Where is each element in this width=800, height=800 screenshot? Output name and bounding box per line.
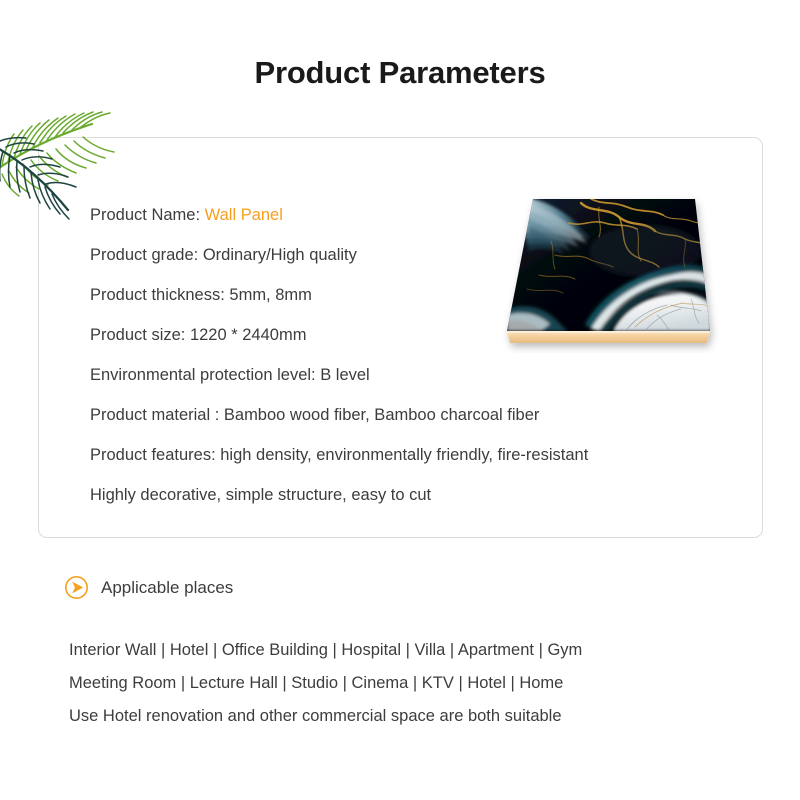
spec-label-product-name: Product Name:	[90, 206, 200, 224]
marble-panel-illustration	[495, 193, 725, 353]
spec-row-product-material: Product material : Bamboo wood fiber, Ba…	[90, 395, 710, 435]
applicable-places-line-1: Interior Wall | Hotel | Office Building …	[69, 634, 769, 667]
applicable-places-line-3: Use Hotel renovation and other commercia…	[69, 700, 769, 733]
page-title: Product Parameters	[0, 55, 800, 91]
product-panel-image	[495, 193, 725, 353]
applicable-places-line-2: Meeting Room | Lecture Hall | Studio | C…	[69, 667, 769, 700]
spec-row-environmental-level: Environmental protection level: B level	[90, 355, 710, 395]
applicable-places-list: Interior Wall | Hotel | Office Building …	[69, 634, 769, 733]
applicable-places-header: Applicable places	[64, 575, 233, 600]
applicable-places-label: Applicable places	[101, 578, 233, 598]
arrow-right-circle-icon	[64, 575, 89, 600]
spec-value-product-name: Wall Panel	[205, 206, 283, 224]
spec-row-product-features: Product features: high density, environm…	[90, 435, 710, 475]
spec-row-extra-features: Highly decorative, simple structure, eas…	[90, 475, 710, 515]
